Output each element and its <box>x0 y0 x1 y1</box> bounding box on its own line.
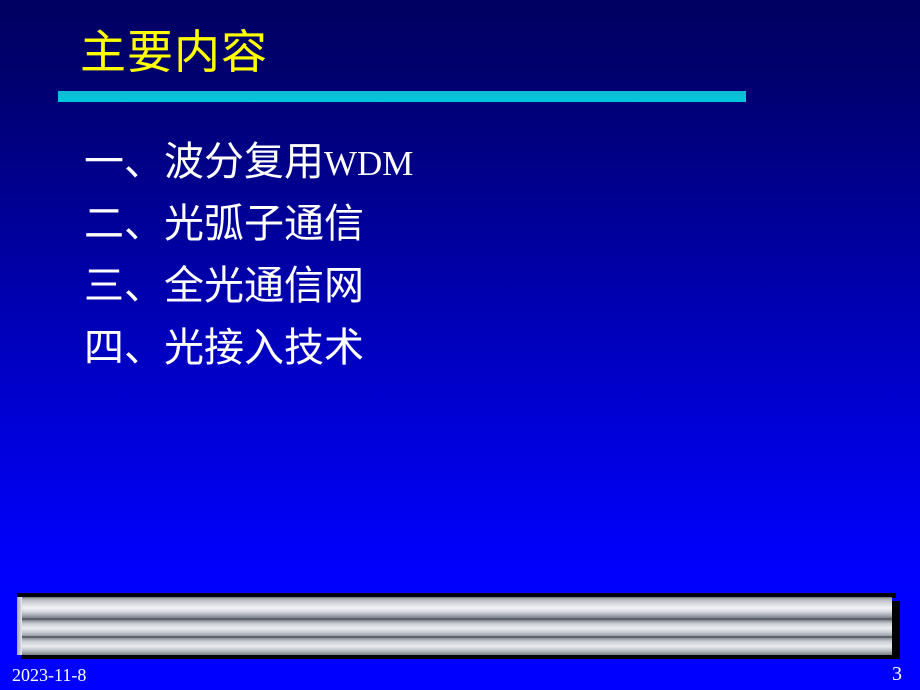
footer-decorative-metal-bar <box>17 597 896 655</box>
list-item-marker: 一、 <box>84 139 164 185</box>
list-item-label: 光接入技术 <box>164 325 364 371</box>
metal-bar-band-middle <box>17 620 892 637</box>
footer-page-number: 3 <box>892 662 902 686</box>
list-item-marker: 二、 <box>84 201 164 247</box>
list-item: 一、波分复用WDM <box>84 132 784 194</box>
metal-bar-left-cap <box>17 597 22 655</box>
list-item-marker: 三、 <box>84 263 164 309</box>
list-item-acronym: WDM <box>324 144 413 183</box>
metal-bar-band-top <box>17 597 892 619</box>
presentation-slide: 主要内容 一、波分复用WDM 二、光弧子通信 三、全光通信网 四、光接入技术 2… <box>0 0 920 690</box>
list-item: 三、全光通信网 <box>84 256 784 318</box>
list-item: 二、光弧子通信 <box>84 194 784 256</box>
list-item-label: 波分复用 <box>164 139 324 185</box>
title-underline-divider <box>58 91 746 102</box>
list-item-label: 光弧子通信 <box>164 201 364 247</box>
list-item-marker: 四、 <box>84 325 164 371</box>
content-outline-list: 一、波分复用WDM 二、光弧子通信 三、全光通信网 四、光接入技术 <box>84 132 784 380</box>
metal-bar-band-bottom <box>17 638 892 655</box>
page-title: 主要内容 <box>80 26 268 78</box>
list-item: 四、光接入技术 <box>84 318 784 380</box>
list-item-label: 全光通信网 <box>164 263 364 309</box>
footer-date: 2023-11-8 <box>12 664 86 686</box>
